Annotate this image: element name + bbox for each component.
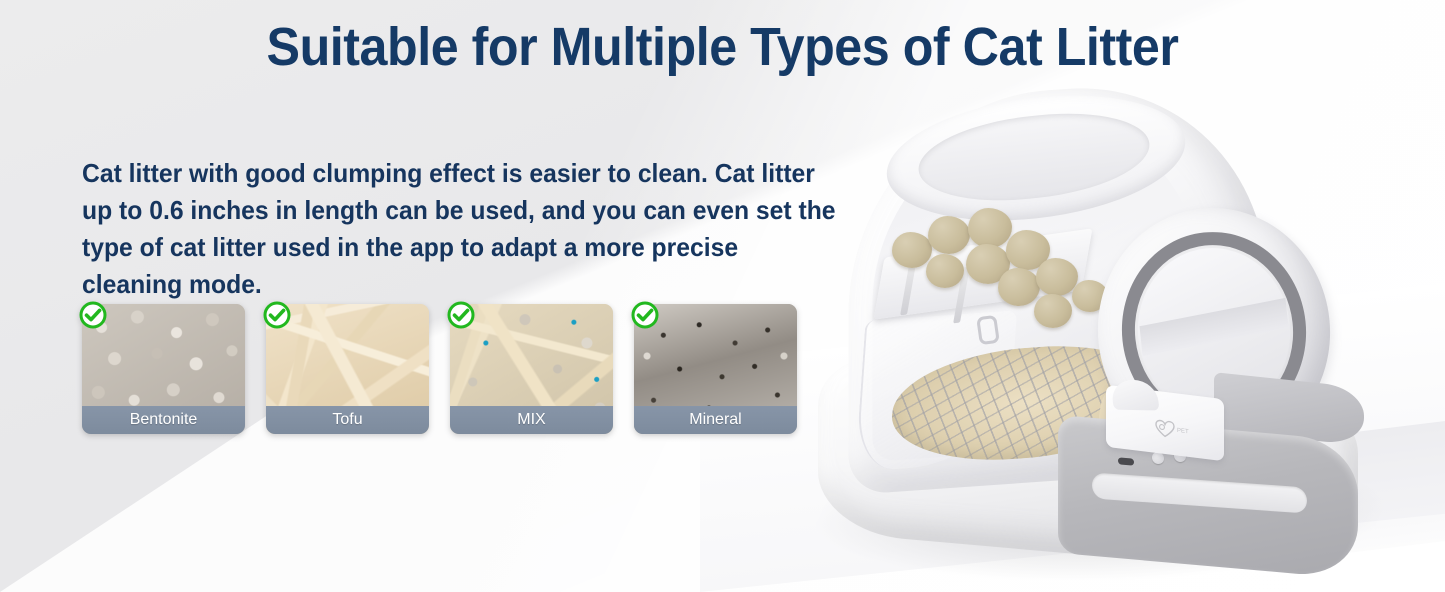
litter-label: Mineral bbox=[634, 406, 797, 434]
check-circle-icon bbox=[446, 300, 476, 330]
litter-card-tofu[interactable]: Tofu bbox=[266, 304, 429, 434]
product-photo: PET bbox=[800, 80, 1445, 592]
description-paragraph: Cat litter with good clumping effect is … bbox=[82, 155, 842, 303]
litter-label: MIX bbox=[450, 406, 613, 434]
product-usb-port bbox=[1118, 457, 1134, 465]
page-title: Suitable for Multiple Types of Cat Litte… bbox=[51, 16, 1395, 78]
litter-card-mix[interactable]: MIX bbox=[450, 304, 613, 434]
check-circle-icon bbox=[262, 300, 292, 330]
product-litter-clumps bbox=[886, 202, 1116, 322]
litter-label: Bentonite bbox=[82, 406, 245, 434]
promo-banner: Suitable for Multiple Types of Cat Litte… bbox=[0, 0, 1445, 592]
check-circle-icon bbox=[78, 300, 108, 330]
litter-card-mineral[interactable]: Mineral bbox=[634, 304, 797, 434]
litter-card-bentonite[interactable]: Bentonite bbox=[82, 304, 245, 434]
brand-heart-icon: PET bbox=[1150, 414, 1190, 443]
svg-text:PET: PET bbox=[1177, 428, 1189, 435]
check-circle-icon bbox=[630, 300, 660, 330]
litter-label: Tofu bbox=[266, 406, 429, 434]
litter-type-list: Bentonite Tofu MIX bbox=[82, 304, 797, 434]
